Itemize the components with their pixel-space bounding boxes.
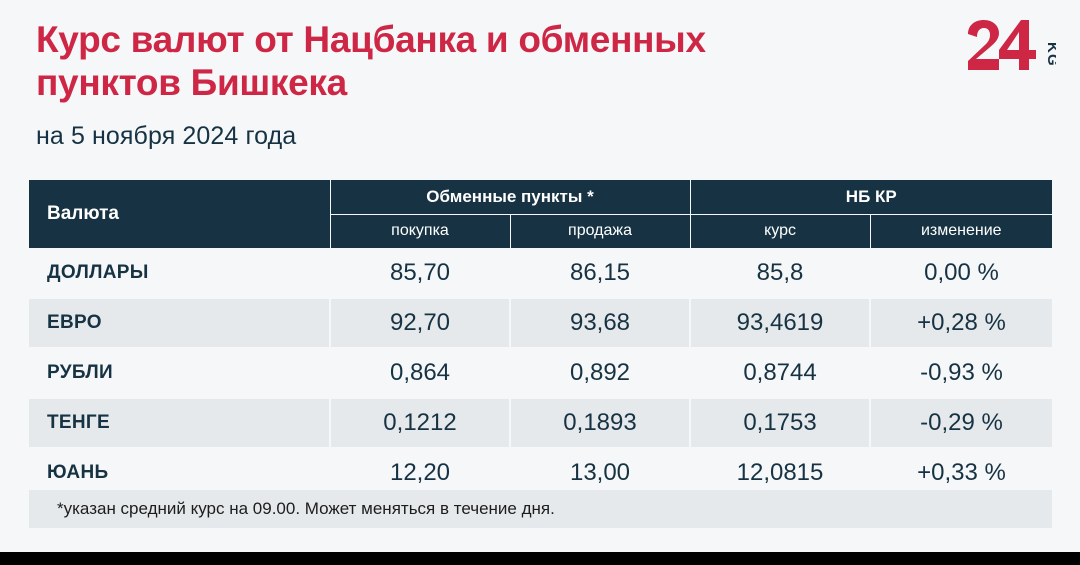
page-title: Курс валют от Нацбанка и обменных пункто…: [36, 18, 736, 105]
page-subtitle: на 5 ноября 2024 года: [36, 122, 1080, 151]
column-header-sell: продажа: [510, 214, 690, 248]
cell-sell: 86,15: [510, 248, 690, 298]
cell-change: +0,28 %: [870, 298, 1052, 348]
cell-change: -0,29 %: [870, 398, 1052, 448]
bottom-bar: [0, 552, 1080, 565]
cell-buy: 0,864: [330, 348, 510, 398]
exchange-rate-table: Валюта Обменные пункты * НБ КР покупка п…: [29, 180, 1052, 499]
cell-buy: 85,70: [330, 248, 510, 298]
group-header-national-bank: НБ КР: [690, 180, 1052, 214]
column-header-buy: покупка: [330, 214, 510, 248]
cell-rate: 0,8744: [690, 348, 870, 398]
logo-icon: K G: [966, 20, 1056, 76]
cell-buy: 0,1212: [330, 398, 510, 448]
page-header: Курс валют от Нацбанка и обменных пункто…: [36, 18, 1080, 151]
cell-currency: РУБЛИ: [29, 348, 330, 398]
table-header: Валюта Обменные пункты * НБ КР покупка п…: [29, 180, 1052, 248]
cell-sell: 0,1893: [510, 398, 690, 448]
cell-currency: ТЕНГЕ: [29, 398, 330, 448]
svg-text:G: G: [1044, 54, 1056, 66]
svg-text:K: K: [1044, 42, 1056, 53]
group-header-exchange-points: Обменные пункты *: [330, 180, 690, 214]
table-row: ЕВРО 92,70 93,68 93,4619 +0,28 %: [29, 298, 1052, 348]
cell-rate: 85,8: [690, 248, 870, 298]
cell-buy: 92,70: [330, 298, 510, 348]
table-body: ДОЛЛАРЫ 85,70 86,15 85,8 0,00 % ЕВРО 92,…: [29, 248, 1052, 498]
table-group-header-row: Валюта Обменные пункты * НБ КР: [29, 180, 1052, 214]
footnote-text: *указан средний курс на 09.00. Может мен…: [57, 499, 555, 519]
table-row: ДОЛЛАРЫ 85,70 86,15 85,8 0,00 %: [29, 248, 1052, 298]
brand-logo-24kg: K G: [966, 20, 1056, 76]
table-footnote: *указан средний курс на 09.00. Может мен…: [29, 490, 1052, 528]
cell-rate: 93,4619: [690, 298, 870, 348]
cell-rate: 0,1753: [690, 398, 870, 448]
table-row: РУБЛИ 0,864 0,892 0,8744 -0,93 %: [29, 348, 1052, 398]
cell-currency: ДОЛЛАРЫ: [29, 248, 330, 298]
cell-sell: 93,68: [510, 298, 690, 348]
table-row: ТЕНГЕ 0,1212 0,1893 0,1753 -0,29 %: [29, 398, 1052, 448]
column-header-rate: курс: [690, 214, 870, 248]
column-header-change: изменение: [870, 214, 1052, 248]
cell-change: 0,00 %: [870, 248, 1052, 298]
column-header-currency: Валюта: [29, 180, 330, 248]
cell-currency: ЕВРО: [29, 298, 330, 348]
cell-change: -0,93 %: [870, 348, 1052, 398]
cell-sell: 0,892: [510, 348, 690, 398]
